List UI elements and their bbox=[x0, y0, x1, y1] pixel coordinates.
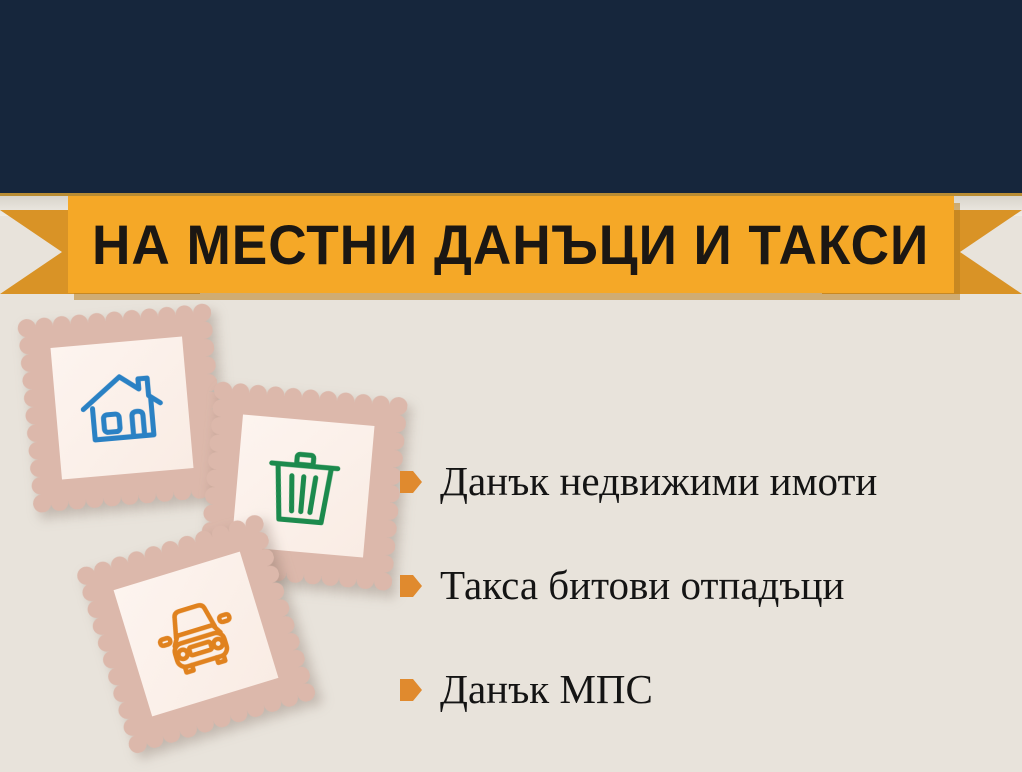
list-item[interactable]: Данък МПС bbox=[400, 638, 1012, 742]
arrow-bullet-icon bbox=[400, 573, 422, 599]
poster-root: община ЕЛИН ПЕЛИН ПРОВЕРКА И П bbox=[0, 0, 1022, 772]
list-item-label: Данък МПС bbox=[440, 668, 653, 711]
tax-type-list: Данък недвижими имоти Такса битови отпад… bbox=[400, 430, 1012, 742]
house-icon bbox=[72, 358, 172, 458]
stamp-paper bbox=[50, 336, 193, 479]
stamp-paper bbox=[114, 552, 279, 717]
list-item-label: Такса битови отпадъци bbox=[440, 564, 844, 607]
list-item-label: Данък недвижими имоти bbox=[440, 460, 877, 503]
trash-bin-icon bbox=[253, 436, 353, 536]
stamp-card-vehicle bbox=[86, 524, 306, 744]
arrow-bullet-icon bbox=[400, 677, 422, 703]
ribbon-band: НА МЕСТНИ ДАНЪЦИ И ТАКСИ bbox=[68, 196, 954, 293]
stamp-card-property bbox=[27, 313, 218, 504]
arrow-bullet-icon bbox=[400, 469, 422, 495]
subtitle-ribbon: НА МЕСТНИ ДАНЪЦИ И ТАКСИ bbox=[0, 196, 1022, 308]
list-item[interactable]: Данък недвижими имоти bbox=[400, 430, 1012, 534]
ribbon-label: НА МЕСТНИ ДАНЪЦИ И ТАКСИ bbox=[92, 212, 929, 277]
header-banner bbox=[0, 0, 1022, 196]
car-icon bbox=[139, 577, 254, 692]
list-item[interactable]: Такса битови отпадъци bbox=[400, 534, 1012, 638]
